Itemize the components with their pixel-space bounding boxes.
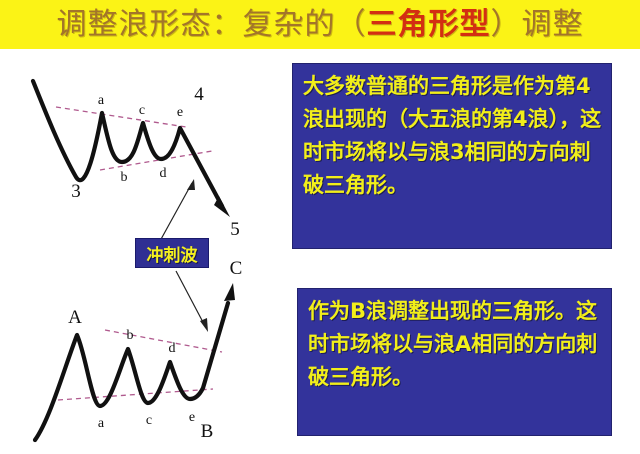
upper-label-e: e [177,105,183,120]
lower-label-e: e [189,410,195,425]
upper-label-5: 5 [230,219,240,240]
page-title: 调整浪形态：复杂的（三角形型）调整 [57,0,584,49]
description-panel-wave4: 大多数普通的三角形是作为第4浪出现的（大五浪的第4浪），这时市场将以与浪3相同的… [292,63,612,249]
lower-wave-path [35,303,228,440]
lower-label-C: C [230,258,243,279]
lower-label-A: A [68,307,82,328]
lower-label-b: b [127,328,134,343]
lower-label-a: a [98,416,105,431]
title-highlight: 三角形型 [367,7,491,42]
upper-label-c: c [139,103,145,118]
lower-annotation-pointer-arrowhead [200,318,208,332]
upper-label-d: d [160,166,167,181]
lower-wave-arrowhead [224,283,235,301]
lower-label-B: B [201,421,214,442]
title-suffix: ）调整 [491,7,584,42]
lower-label-c: c [146,413,152,428]
slide-root: 调整浪形态：复杂的（三角形型）调整 3 a b c d e 4 [0,0,640,454]
upper-label-b: b [121,170,128,185]
upper-chart-group: 3 a b c d e 4 5 [33,81,240,241]
upper-annotation-pointer-arrowhead [187,179,195,190]
upper-label-a: a [98,93,105,108]
description-panel-waveb-text: 作为B浪调整出现的三角形。这时市场将以与浪A相同的方向刺破三角形。 [308,295,603,394]
lower-triangle-upper-trendline [105,330,222,352]
upper-annotation-pointer-line [160,183,192,241]
thrust-wave-badge-label: 冲刺波 [147,241,198,266]
upper-label-4: 4 [194,84,204,105]
title-prefix: 调整浪形态：复杂的（ [57,7,367,42]
lower-label-d: d [169,341,176,356]
description-panel-waveb: 作为B浪调整出现的三角形。这时市场将以与浪A相同的方向刺破三角形。 [297,288,612,436]
description-panel-wave4-text: 大多数普通的三角形是作为第4浪出现的（大五浪的第4浪），这时市场将以与浪3相同的… [303,70,603,202]
upper-triangle-upper-trendline [56,107,186,127]
lower-chart-group: A a b c d e B C [35,258,242,442]
upper-label-3: 3 [71,181,81,202]
thrust-wave-badge: 冲刺波 [135,238,209,268]
title-bar: 调整浪形态：复杂的（三角形型）调整 [0,0,640,49]
lower-annotation-pointer-line [176,271,205,326]
